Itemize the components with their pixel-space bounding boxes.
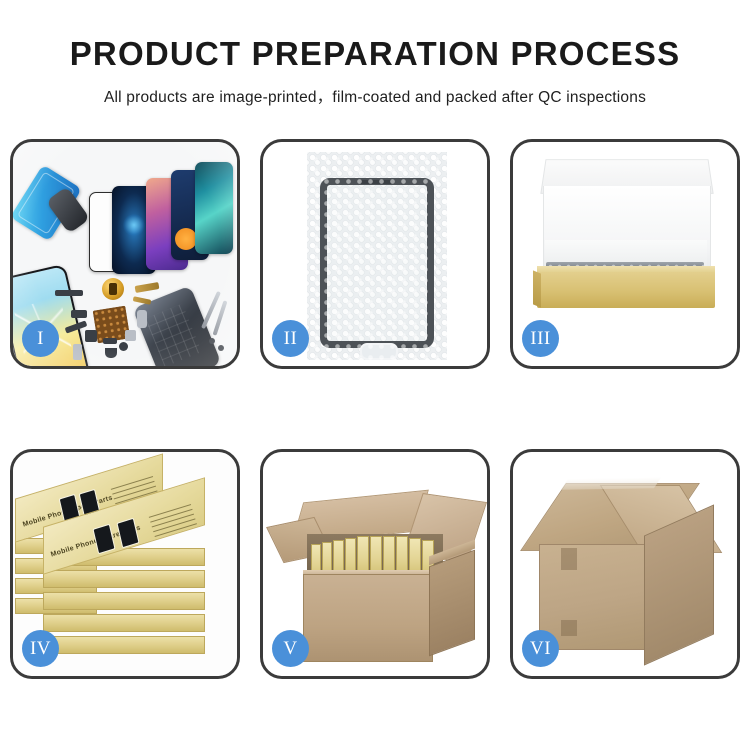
product-preparation-infographic: PRODUCT PREPARATION PROCESS All products… [0,0,750,750]
process-step-6: VI [510,449,740,679]
flex-cable-part-1 [135,282,160,293]
header: PRODUCT PREPARATION PROCESS All products… [0,0,750,107]
step-badge-6: VI [522,630,559,667]
kraft-box-left-side [533,270,541,307]
step-badge-3: III [522,320,559,357]
vibrator-part [71,310,87,318]
sim-tray-part [103,338,117,344]
carton-hand-tab-top [561,548,577,570]
sensor-strip-part [73,344,82,360]
stacked-box-front-2 [43,570,205,588]
button-flex-part [137,310,147,328]
page-subtitle: All products are image-printed，film-coat… [0,85,750,107]
carton-front-face [539,544,647,650]
step-badge-1: I [22,320,59,357]
ic-chip-part [125,330,136,341]
connector-strip-part [55,290,83,296]
camera-module-part [85,330,97,342]
earpiece-part [105,348,117,358]
process-step-1: I [10,139,240,369]
bubble-wrap-sheet [307,152,447,360]
page-title: PRODUCT PREPARATION PROCESS [0,36,750,72]
process-step-2: II [260,139,490,369]
kraft-box-front-panel [537,272,715,308]
process-step-5: V [260,449,490,679]
screw-part-1 [119,342,128,351]
stacked-box-front-3 [43,592,205,610]
step-badge-5: V [272,630,309,667]
step-badge-2: II [272,320,309,357]
phone-glass-screen [320,178,434,348]
stacked-box-front-4 [43,614,205,632]
teal-wave-phone [195,162,233,254]
stacked-box-front-5 [43,636,205,654]
speaker-module-part [102,278,124,300]
process-steps-grid: I II III [10,139,740,679]
carton-hand-tab-bottom [561,620,577,636]
process-step-4: Mobile Phone Spare Parts Mobile Phone Sp… [10,449,240,679]
carton-front-panel [303,574,433,662]
packing-tape-strip [561,477,661,490]
carton-right-panel [429,550,475,657]
step-badge-4: IV [22,630,59,667]
process-step-3: III [510,139,740,369]
screw-part-3 [218,345,224,351]
screw-part-2 [209,338,215,344]
